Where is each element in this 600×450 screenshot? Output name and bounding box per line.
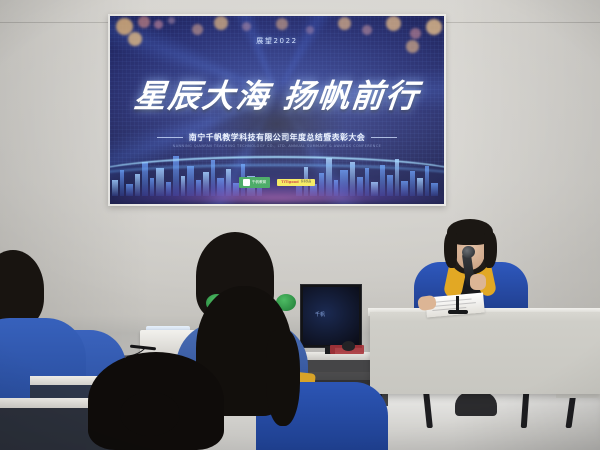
desktop-monitor: 千帆 xyxy=(300,284,362,348)
speaker-chair xyxy=(455,392,497,416)
meeting-room-photo: 展望2022 星辰大海 扬帆前行 南宁千帆教学科技有限公司年度总结暨表彰大会 N… xyxy=(0,0,600,450)
monitor-screen xyxy=(303,287,359,345)
speaker-hair-left xyxy=(444,232,457,268)
paper-text-line xyxy=(432,302,476,307)
monitor-screen-glyph: 千帆 xyxy=(315,311,325,318)
speaker-hand-holding-mic xyxy=(470,274,486,290)
desk-microphone-base xyxy=(448,310,468,314)
computer-mouse xyxy=(342,341,355,351)
speaker-hair-right xyxy=(484,232,497,268)
attendee-front-center-hair-strand xyxy=(266,330,300,426)
podium-front-panel xyxy=(370,312,600,394)
attendee-foreground-hair-bun xyxy=(120,392,180,436)
